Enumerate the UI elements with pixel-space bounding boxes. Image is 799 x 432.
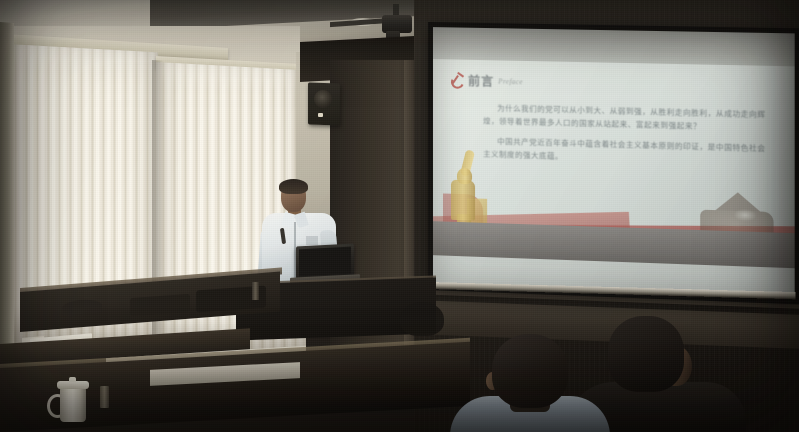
- wall-corner-edge: [0, 22, 14, 353]
- mug-lid-knob: [69, 377, 76, 382]
- slide-header: 前言 Preface: [451, 71, 523, 90]
- laptop-display-bezel: [299, 247, 351, 277]
- conference-room-photo: 前言 Preface 为什么我们的党可以从小到大、从弱到强，从胜利走向胜利，从成…: [0, 0, 799, 432]
- presenter-hair: [279, 179, 308, 194]
- pagoda-highlight: [734, 209, 757, 222]
- presentation-slide: 前言 Preface 为什么我们的党可以从小到大、从弱到强，从胜利走向胜利，从成…: [433, 59, 795, 268]
- water-bottle: [252, 282, 259, 300]
- slide-body-text: 为什么我们的党可以从小到大、从弱到强，从胜利走向胜利，从成功走向辉煌，领导着世界…: [483, 102, 767, 177]
- audience-head-distant: [400, 302, 444, 336]
- audience-member-back-head: [608, 316, 684, 392]
- slide-paragraph: 中国共产党近百年奋斗中蕴含着社会主义基本原则的印证，是中国特色社会主义制度的强大…: [483, 136, 767, 169]
- slide-title-english: Preface: [498, 77, 523, 86]
- audience-member-front-head: [492, 334, 568, 408]
- thermos-cup: [100, 386, 109, 408]
- monument-head: [457, 168, 472, 184]
- ceramic-mug: [60, 388, 86, 422]
- speaker-indicator-light: [318, 113, 323, 117]
- monument-body: [451, 180, 475, 221]
- slide-title-chinese: 前言: [468, 72, 494, 90]
- projection-screen-surface: 前言 Preface 为什么我们的党可以从小到大、从弱到强，从胜利走向胜利，从成…: [433, 27, 795, 299]
- slide-paragraph: 为什么我们的党可以从小到大、从弱到强，从胜利走向胜利，从成功走向辉煌，领导着世界…: [483, 102, 767, 135]
- presenter-shirt-pocket: [306, 236, 318, 245]
- hammer-and-sickle-icon: [451, 73, 464, 86]
- projection-screen: 前言 Preface 为什么我们的党可以从小到大、从弱到强，从胜利走向胜利，从成…: [428, 22, 799, 304]
- mug-lid: [57, 381, 89, 389]
- speaker-cone-icon: [314, 90, 332, 108]
